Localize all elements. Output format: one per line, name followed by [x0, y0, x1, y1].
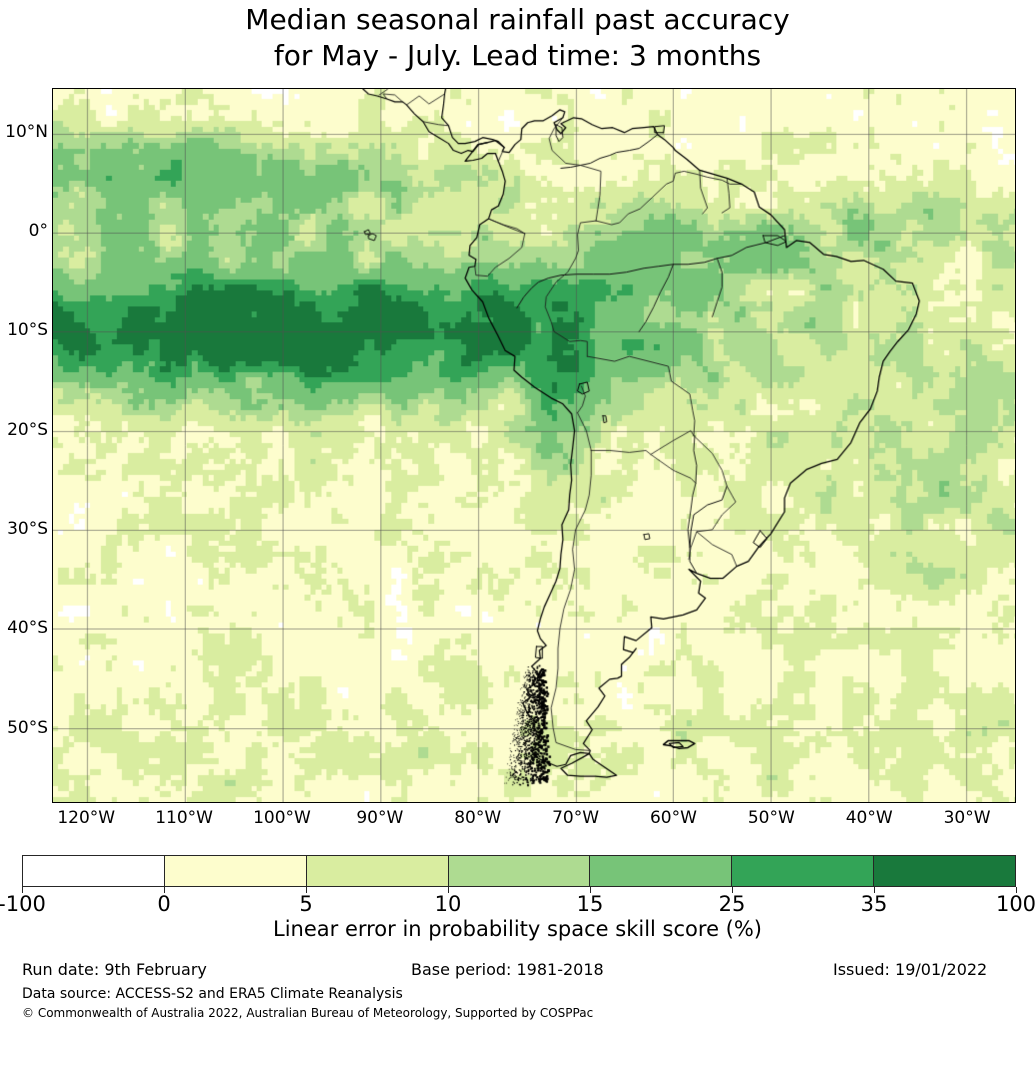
colorbar	[22, 855, 1016, 887]
footer-data-source: Data source: ACCESS-S2 and ERA5 Climate …	[22, 985, 403, 1003]
page-title: Median seasonal rainfall past accuracy f…	[0, 2, 1035, 74]
footer-copyright: © Commonwealth of Australia 2022, Austra…	[22, 1005, 593, 1021]
xtick-label-40w: 40°W	[814, 810, 924, 827]
colorbar-segment-4	[590, 856, 732, 886]
colorbar-tick-label-6: 35	[814, 893, 934, 915]
footer-issued-date: Issued: 19/01/2022	[833, 960, 987, 980]
xtick-label-60w: 60°W	[618, 810, 728, 827]
ytick-label-20s: 20°S	[0, 422, 48, 439]
colorbar-tick-label-7: 100	[956, 893, 1035, 915]
xtick-label-120w: 120°W	[31, 810, 141, 827]
colorbar-tick-label-4: 15	[530, 893, 650, 915]
colorbar-title: Linear error in probability space skill …	[0, 917, 1035, 941]
footer-base-period: Base period: 1981-2018	[411, 960, 604, 980]
xtick-label-100w: 100°W	[227, 810, 337, 827]
colorbar-segment-0	[23, 856, 165, 886]
xtick-label-110w: 110°W	[129, 810, 239, 827]
ytick-label-10n: 10°N	[0, 124, 48, 141]
xtick-label-50w: 50°W	[716, 810, 826, 827]
colorbar-tick-label-2: 5	[246, 893, 366, 915]
skill-score-heatmap	[53, 89, 1015, 802]
ytick-label-30s: 30°S	[0, 521, 48, 538]
map-plot-area	[52, 88, 1016, 803]
footer: Run date: 9th February Base period: 1981…	[0, 960, 1035, 1050]
colorbar-segment-6	[874, 856, 1015, 886]
footer-run-date: Run date: 9th February	[22, 960, 207, 980]
colorbar-gradient	[22, 855, 1016, 887]
xtick-label-30w: 30°W	[912, 810, 1022, 827]
colorbar-segment-2	[307, 856, 449, 886]
ytick-label-0: 0°	[0, 223, 48, 240]
colorbar-tick-label-3: 10	[388, 893, 508, 915]
colorbar-tick-label-0: -100	[0, 893, 82, 915]
xtick-label-70w: 70°W	[521, 810, 631, 827]
ytick-label-10s: 10°S	[0, 322, 48, 339]
xtick-label-80w: 80°W	[423, 810, 533, 827]
colorbar-tick-label-1: 0	[104, 893, 224, 915]
ytick-label-50s: 50°S	[0, 720, 48, 737]
colorbar-tick-label-5: 25	[672, 893, 792, 915]
colorbar-segment-3	[449, 856, 591, 886]
xtick-label-90w: 90°W	[325, 810, 435, 827]
colorbar-segment-1	[165, 856, 307, 886]
ytick-label-40s: 40°S	[0, 620, 48, 637]
colorbar-segment-5	[732, 856, 874, 886]
